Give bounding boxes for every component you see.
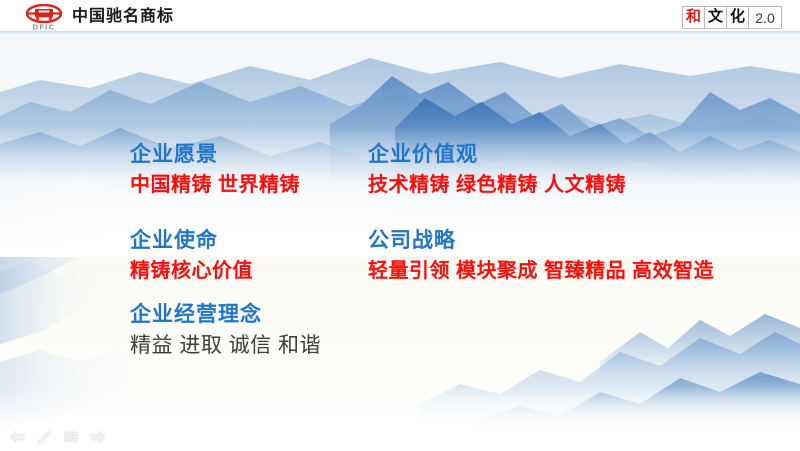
culture-mark: 和 文 化 2.0 <box>683 6 782 27</box>
mission-heading: 企业使命 <box>130 228 253 254</box>
culture-mark-cell-2: 文 <box>704 6 727 29</box>
mission-text: 精铸核心价值 <box>130 259 253 284</box>
brand-lockup: DFIC 中国驰名商标 <box>24 3 174 31</box>
previous-slide-icon[interactable] <box>8 428 25 445</box>
pen-tool-icon[interactable] <box>35 428 52 445</box>
header-divider <box>0 31 800 34</box>
strategy-heading: 公司战略 <box>368 228 714 254</box>
values-heading: 企业价值观 <box>368 142 626 168</box>
block-mission: 企业使命 精铸核心价值 <box>130 228 253 284</box>
vision-text: 中国精铸 世界精铸 <box>130 173 300 198</box>
vision-heading: 企业愿景 <box>130 142 300 168</box>
slide-header-bar: DFIC 中国驰名商标 <box>0 0 800 32</box>
presenter-toolbar <box>8 428 106 445</box>
block-philosophy: 企业经营理念 精益 进取 诚信 和谐 <box>130 302 321 360</box>
presentation-slide: DFIC 中国驰名商标 和 文 化 2.0 企业愿景 中国精铸 世界精铸 企业使… <box>0 0 800 451</box>
philosophy-text: 精益 进取 诚信 和谐 <box>130 333 321 359</box>
slide-menu-icon[interactable] <box>62 428 79 445</box>
next-slide-icon[interactable] <box>89 428 106 445</box>
brand-title: 中国驰名商标 <box>72 9 174 26</box>
svg-text:DFIC: DFIC <box>33 22 56 31</box>
values-text: 技术精铸 绿色精铸 人文精铸 <box>368 173 626 198</box>
dfic-oval-logo-icon: DFIC <box>24 4 64 31</box>
culture-mark-cell-3: 化 <box>726 6 749 29</box>
block-values: 企业价值观 技术精铸 绿色精铸 人文精铸 <box>368 142 626 198</box>
block-strategy: 公司战略 轻量引领 模块聚成 智臻精品 高效智造 <box>368 228 714 284</box>
culture-mark-cell-1: 和 <box>682 6 705 29</box>
philosophy-heading: 企业经营理念 <box>130 302 321 328</box>
culture-mark-cell-version: 2.0 <box>748 6 782 29</box>
slide-content: 企业愿景 中国精铸 世界精铸 企业使命 精铸核心价值 企业经营理念 精益 进取 … <box>0 32 800 451</box>
strategy-text: 轻量引领 模块聚成 智臻精品 高效智造 <box>368 259 714 284</box>
block-vision: 企业愿景 中国精铸 世界精铸 <box>130 142 300 198</box>
